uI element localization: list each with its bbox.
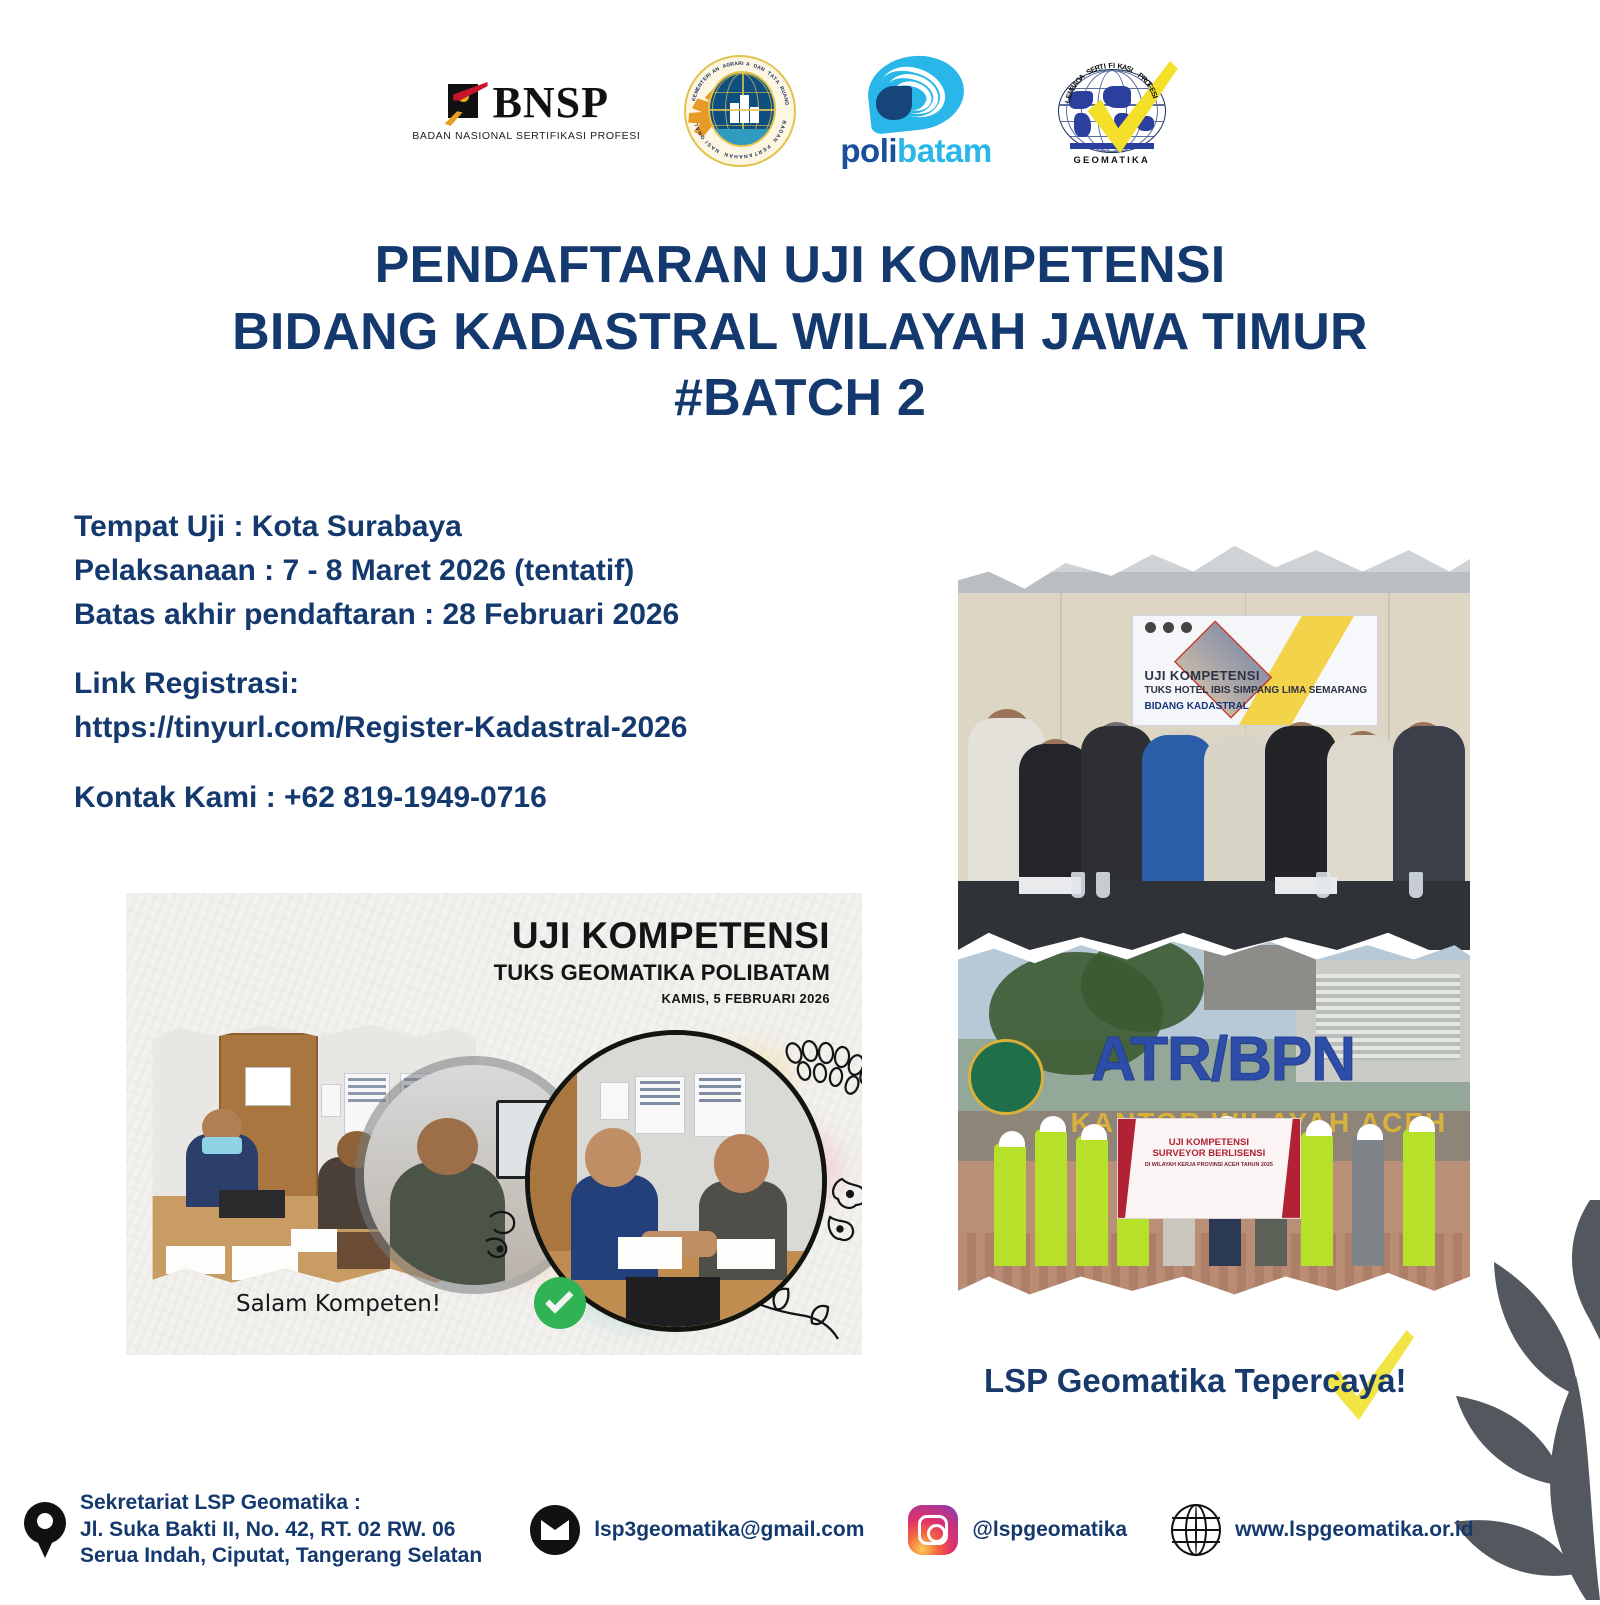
star-doodle-icon: [816, 1173, 862, 1253]
green-check-icon: [534, 1277, 586, 1329]
instagram-text: @lspgeomatika: [972, 1517, 1127, 1543]
instagram-icon: [908, 1505, 958, 1555]
address-line-3: Serua Indah, Ciputat, Tangerang Selatan: [80, 1543, 482, 1569]
address-line-1: Sekretariat LSP Geomatika :: [80, 1490, 482, 1516]
detail-batas-akhir: Batas akhir pendaftaran : 28 Februari 20…: [74, 593, 904, 637]
polibatam-word-batam: batam: [897, 132, 992, 169]
bnsp-wordmark: BNSP: [493, 81, 609, 125]
contact-phone: Kontak Kami : +62 819-1949-0716: [74, 776, 904, 820]
card-title: UJI KOMPETENSI TUKS GEOMATIKA POLIBATAM …: [126, 915, 862, 1006]
footer-address: Sekretariat LSP Geomatika : Jl. Suka Bak…: [24, 1490, 482, 1569]
uji-kompetensi-polibatam-card: UJI KOMPETENSI TUKS GEOMATIKA POLIBATAM …: [126, 893, 862, 1355]
registration-link-url[interactable]: https://tinyurl.com/Register-Kadastral-2…: [74, 706, 904, 750]
atr-bpn-sign-text: ATR/BPN: [1091, 1032, 1355, 1088]
polibatam-logo: polibatam: [840, 56, 991, 167]
atr-bpn-arc-text: KEMENTERIAN AGRARIA DAN TATA RUANGBADAN …: [684, 55, 796, 167]
footer-website[interactable]: www.lspgeomatika.or.id: [1171, 1504, 1473, 1556]
logo-strip: BNSP BADAN NASIONAL SERTIFIKASI PROFESI …: [0, 46, 1600, 176]
aceh-event-banner: UJI KOMPETENSI SURVEYOR BERLISENSI DI WI…: [1117, 1118, 1301, 1219]
footer-email[interactable]: lsp3geomatika@gmail.com: [530, 1505, 864, 1555]
title-line-2: BIDANG KADASTRAL WILAYAH JAWA TIMUR: [0, 299, 1600, 366]
aceh-banner-line1: UJI KOMPETENSI: [1169, 1137, 1249, 1148]
semarang-banner-title: UJI KOMPETENSI: [1144, 668, 1367, 684]
page-title: PENDAFTARAN UJI KOMPETENSI BIDANG KADAST…: [0, 232, 1600, 432]
detail-pelaksanaan: Pelaksanaan : 7 - 8 Maret 2026 (tentatif…: [74, 549, 904, 593]
polibatam-mark-icon: [868, 56, 964, 130]
tagline-text: LSP Geomatika Tepercaya!: [984, 1362, 1406, 1400]
title-line-3: #BATCH 2: [0, 365, 1600, 432]
card-title-line2: TUKS GEOMATIKA POLIBATAM: [126, 960, 830, 986]
card-title-line1: UJI KOMPETENSI: [126, 915, 830, 957]
event-details: Tempat Uji : Kota Surabaya Pelaksanaan :…: [74, 505, 904, 820]
aceh-banner-line2: SURVEYOR BERLISENSI: [1152, 1148, 1265, 1159]
bnsp-mark-icon: [444, 80, 488, 126]
semarang-banner-field: BIDANG KADASTRAL: [1144, 701, 1367, 714]
uji-kompetensi-semarang-photo: UJI KOMPETENSI TUKS HOTEL IBIS SIMPANG L…: [958, 520, 1470, 950]
atr-bpn-emblem-icon: [968, 1039, 1044, 1115]
salam-kompeten-text: Salam Kompeten!: [236, 1291, 441, 1317]
email-icon: [530, 1505, 580, 1555]
email-text: lsp3geomatika@gmail.com: [594, 1517, 864, 1543]
detail-tempat-uji: Tempat Uji : Kota Surabaya: [74, 505, 904, 549]
polibatam-word-poli: poli: [840, 132, 897, 169]
footer-instagram[interactable]: @lspgeomatika: [908, 1505, 1127, 1555]
location-pin-icon: [24, 1502, 66, 1558]
title-line-1: PENDAFTARAN UJI KOMPETENSI: [0, 232, 1600, 299]
lsp-geomatika-label: GEOMATIKA: [1036, 154, 1188, 165]
website-text: www.lspgeomatika.or.id: [1235, 1517, 1473, 1543]
polibatam-wordmark: polibatam: [840, 134, 991, 167]
globe-icon: [1171, 1504, 1221, 1556]
aceh-banner-line3: DI WILAYAH KERJA PROVINSI ACEH TAHUN 202…: [1118, 1162, 1300, 1168]
registration-link-label: Link Registrasi:: [74, 662, 904, 706]
address-line-2: Jl. Suka Bakti II, No. 42, RT. 02 RW. 06: [80, 1517, 482, 1543]
bnsp-subtitle: BADAN NASIONAL SERTIFIKASI PROFESI: [412, 130, 640, 142]
card-title-line3: KAMIS, 5 FEBRUARI 2026: [126, 991, 830, 1006]
footer-contact-bar: Sekretariat LSP Geomatika : Jl. Suka Bak…: [0, 1482, 1600, 1578]
bnsp-logo: BNSP BADAN NASIONAL SERTIFIKASI PROFESI: [412, 80, 640, 142]
lsp-geomatika-logo: LEMBAGA SERTIFIKASI PROFESI GEOMATIKA: [1036, 55, 1188, 167]
semarang-banner-sub: TUKS HOTEL IBIS SIMPANG LIMA SEMARANG: [1144, 685, 1367, 698]
atr-bpn-logo: KEMENTERIAN AGRARIA DAN TATA RUANGBADAN …: [684, 55, 796, 167]
semarang-event-banner: UJI KOMPETENSI TUKS HOTEL IBIS SIMPANG L…: [1132, 615, 1378, 727]
